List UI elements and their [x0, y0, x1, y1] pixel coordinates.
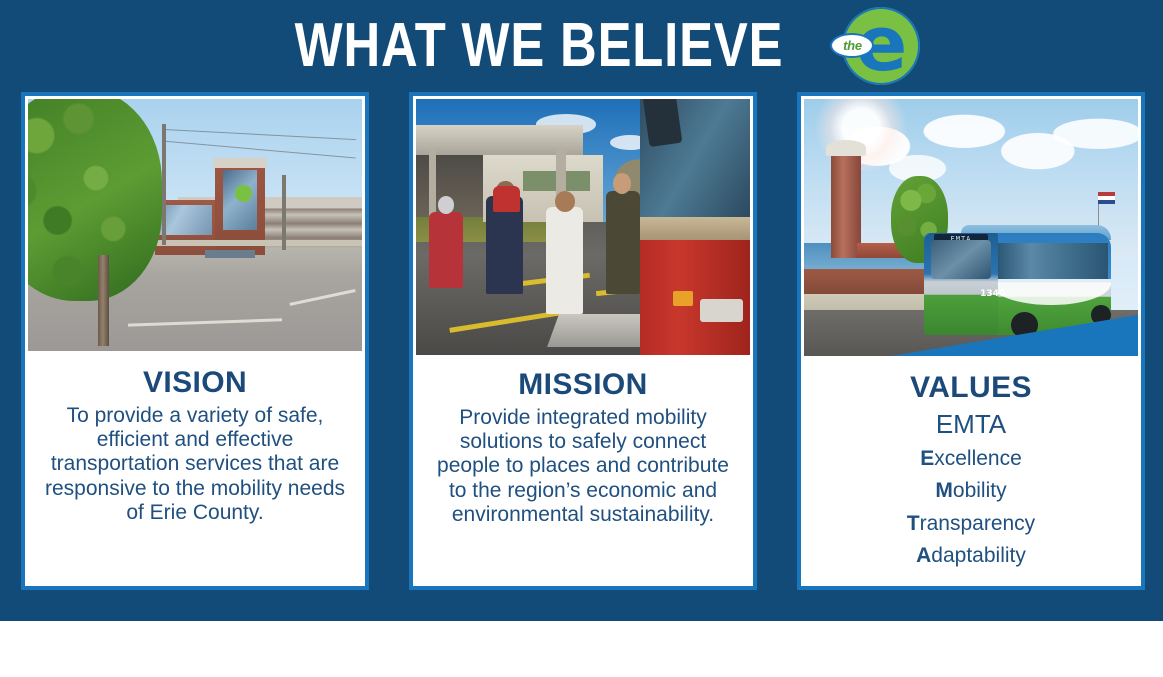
tree-foliage — [28, 99, 162, 301]
emta-bus-bicentennial-tower-photo: EMTA 1340 — [804, 99, 1138, 356]
value-rest: xcellence — [934, 447, 1022, 470]
coach-turn-signal — [673, 291, 693, 306]
card-vision-inner: VISION To provide a variety of safe, eff… — [25, 96, 365, 586]
value-rest: daptability — [931, 544, 1026, 567]
coach-tan-band — [640, 217, 750, 240]
page-title: WHAT WE BELIEVE — [294, 15, 783, 77]
building-e-logo-icon — [235, 185, 252, 203]
person-red-coat — [429, 212, 462, 289]
the-e-logo: e the — [830, 7, 922, 85]
value-initial: T — [907, 512, 920, 535]
card-vision-heading: VISION — [40, 367, 350, 399]
bus-fleet-number: 1340 — [978, 289, 1008, 302]
card-vision-text: To provide a variety of safe, efficient … — [40, 404, 350, 526]
coach-headlight — [700, 299, 743, 322]
bus-windshield — [931, 240, 991, 279]
card-mission: MISSION Provide integrated mobility solu… — [409, 92, 757, 590]
card-mission-body: MISSION Provide integrated mobility solu… — [416, 355, 750, 583]
card-mission-inner: MISSION Provide integrated mobility solu… — [413, 96, 753, 586]
tower-observation-deck — [826, 140, 866, 155]
coach-side-mirror — [643, 99, 683, 147]
person-head — [613, 173, 631, 193]
utility-pole — [282, 175, 286, 251]
person-suit — [606, 191, 639, 293]
card-values-body: VALUES EMTA Excellence Mobility Transpar… — [804, 356, 1138, 583]
values-list: Excellence Mobility Transparency Adaptab… — [816, 443, 1126, 573]
passengers-boarding-coach-photo — [416, 99, 750, 355]
bicentennial-tower — [831, 150, 861, 258]
header: WHAT WE BELIEVE e the — [0, 0, 1163, 92]
card-values-subheading: EMTA — [816, 409, 1126, 440]
card-vision: VISION To provide a variety of safe, eff… — [21, 92, 369, 590]
value-initial: A — [916, 544, 931, 567]
utility-pole — [162, 124, 166, 245]
value-rest: ransparency — [920, 512, 1036, 535]
us-flag-icon — [1098, 192, 1115, 205]
entrance-canopy — [205, 250, 255, 258]
belief-cards-row: VISION To provide a variety of safe, eff… — [21, 92, 1145, 590]
list-item: Transparency — [816, 508, 1126, 541]
value-rest: obility — [953, 479, 1007, 502]
card-values: EMTA 1340 VALUES EMTA Excellence Mobilit… — [797, 92, 1145, 590]
emta-headquarters-photo — [28, 99, 362, 351]
value-initial: M — [935, 479, 953, 502]
bus-side-windows — [998, 243, 1108, 279]
value-initial: E — [920, 447, 934, 470]
tree-trunk — [98, 255, 109, 346]
card-vision-body: VISION To provide a variety of safe, eff… — [28, 351, 362, 583]
card-mission-heading: MISSION — [428, 369, 738, 401]
list-item: Mobility — [816, 475, 1126, 508]
list-item: Adaptability — [816, 540, 1126, 573]
red-scarf — [493, 186, 520, 212]
card-mission-text: Provide integrated mobility solutions to… — [428, 406, 738, 528]
person-head — [555, 191, 575, 211]
card-values-heading: VALUES — [816, 372, 1126, 404]
infographic-canvas: WHAT WE BELIEVE e the — [0, 0, 1163, 677]
list-item: Excellence — [816, 443, 1126, 476]
tower-cap — [213, 158, 266, 168]
person-white-coat — [546, 207, 583, 315]
sun-flare — [811, 99, 911, 171]
card-values-inner: EMTA 1340 VALUES EMTA Excellence Mobilit… — [801, 96, 1141, 586]
